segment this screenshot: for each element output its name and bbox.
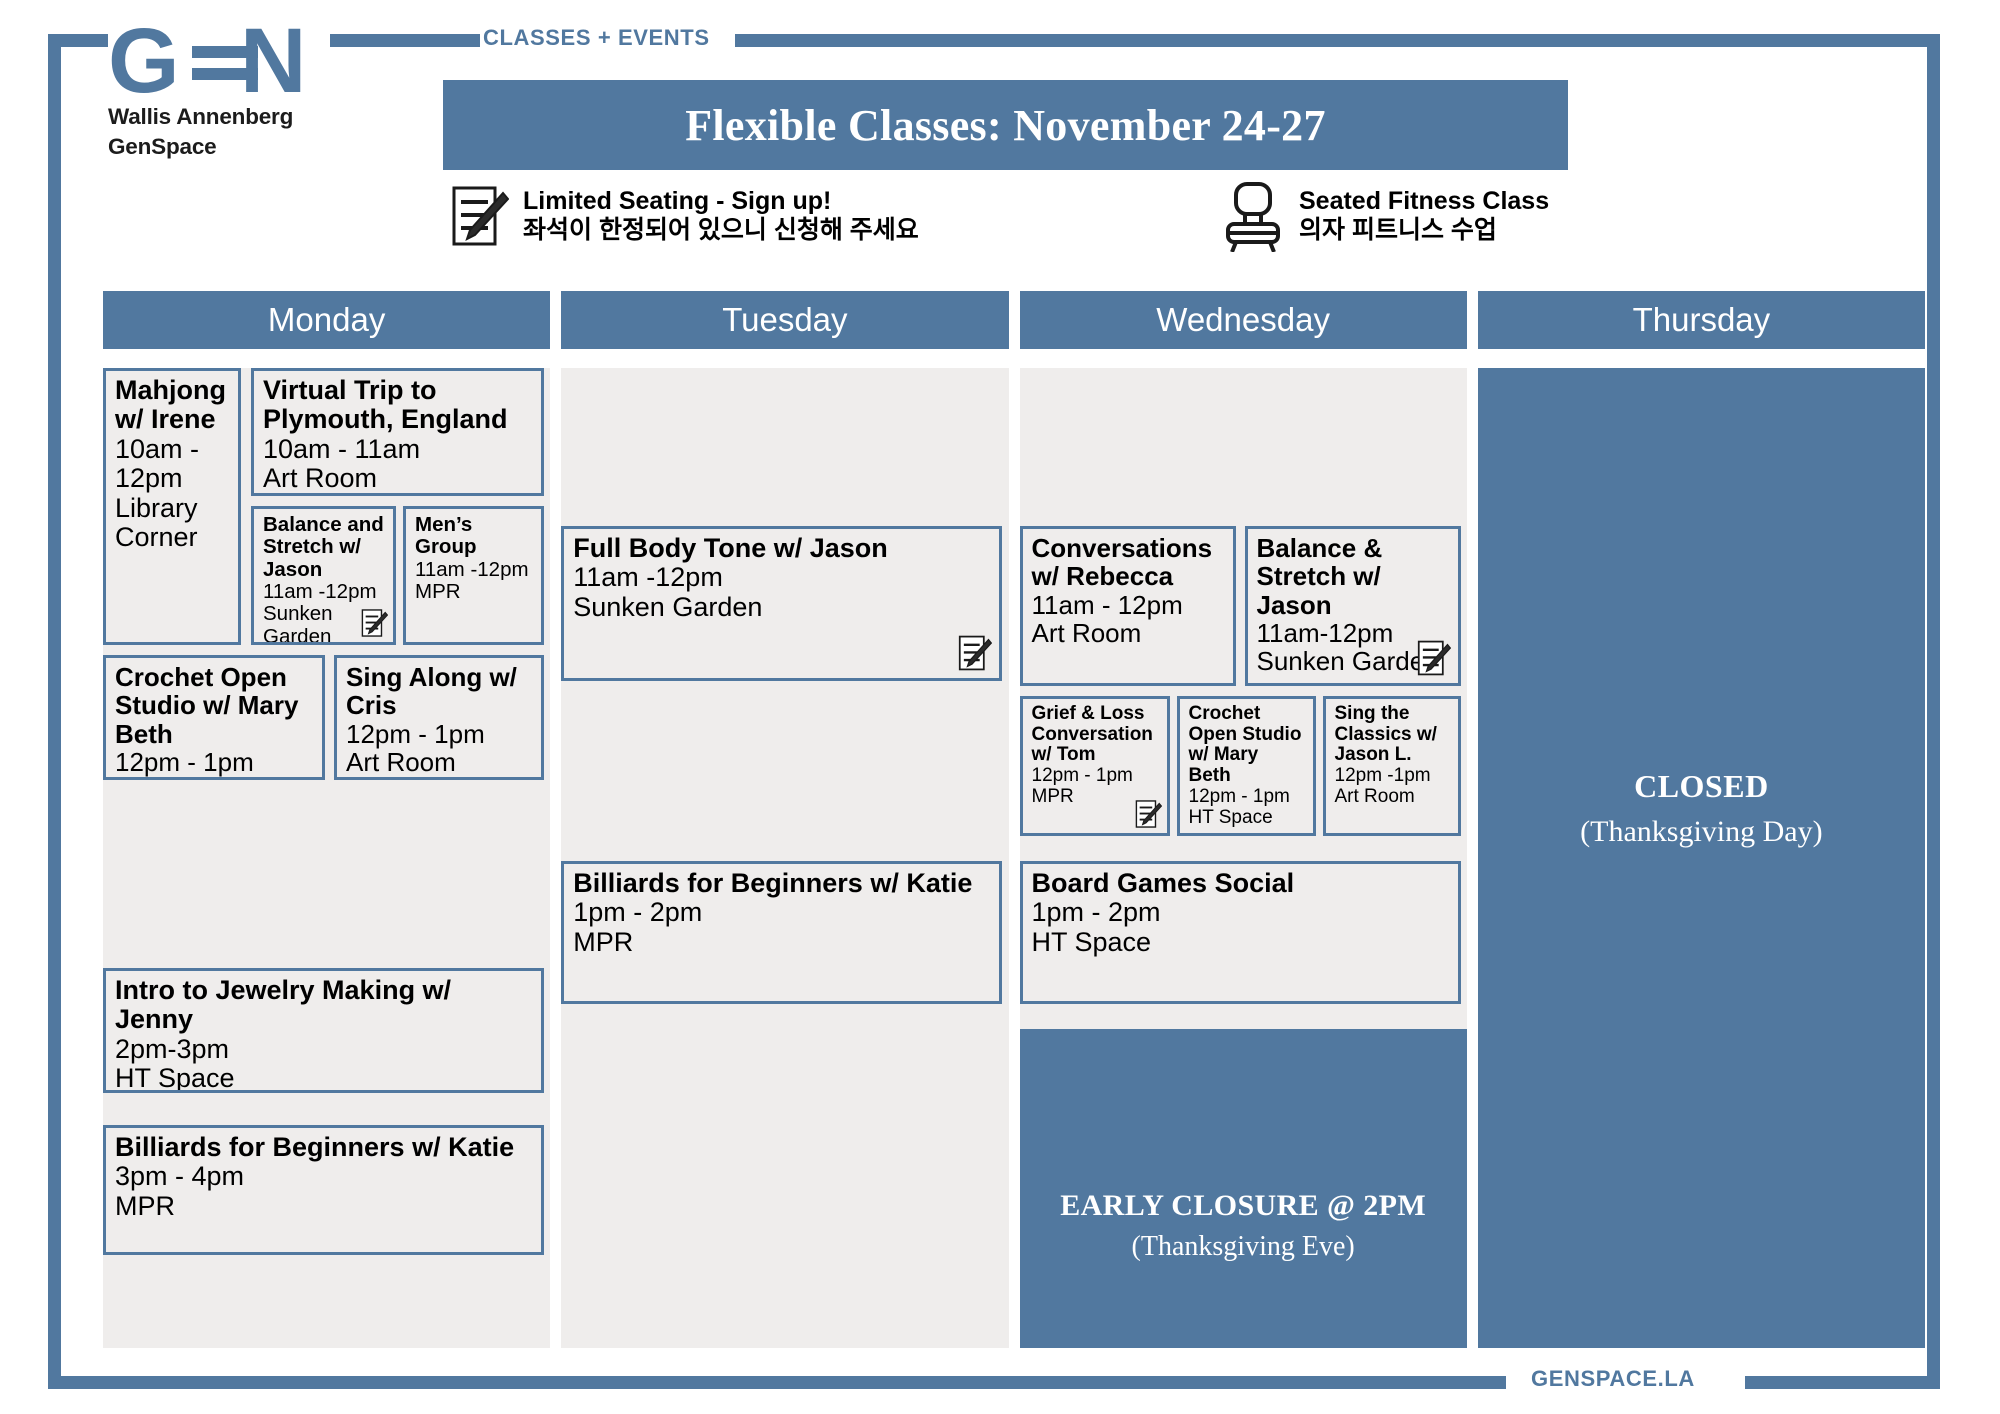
logo-mark: G N <box>108 18 313 100</box>
day-header-wednesday: Wednesday <box>1020 291 1467 349</box>
event-title: Balance & Stretch w/ Jason <box>1257 534 1450 619</box>
event-time: 11am -12pm <box>415 559 533 581</box>
event-card[interactable]: Sing Along w/ Cris 12pm - 1pm Art Room <box>334 655 544 780</box>
event-title: Billiards for Beginners w/ Katie <box>573 869 991 898</box>
event-time: 11am -12pm <box>263 581 385 603</box>
event-title: Board Games Social <box>1032 869 1450 898</box>
event-time: 1pm - 2pm <box>1032 898 1450 927</box>
genspace-logo: G N Wallis Annenberg GenSpace <box>108 18 338 163</box>
day-header-monday: Monday <box>103 291 550 349</box>
chair-icon <box>1223 180 1285 252</box>
event-card[interactable]: Mahjong w/ Irene 10am - 12pm Library Cor… <box>103 368 241 645</box>
closed-title: CLOSED <box>1478 768 1925 805</box>
event-location: HT Space <box>115 1064 533 1093</box>
column-wednesday: Conversations w/ Rebecca 11am - 12pm Art… <box>1020 368 1467 1348</box>
footer-url: GENSPACE.LA <box>1531 1366 1695 1392</box>
event-title: Crochet Open Studio w/ Mary Beth <box>115 663 314 748</box>
event-location: Art Room <box>1335 787 1450 808</box>
event-location: MPR <box>573 928 991 957</box>
event-card[interactable]: Intro to Jewelry Making w/ Jenny 2pm-3pm… <box>103 968 544 1093</box>
event-title: Intro to Jewelry Making w/ Jenny <box>115 976 533 1035</box>
frame-right-bar <box>1927 34 1940 1389</box>
event-location: MPR <box>115 1192 533 1221</box>
early-closure-title: EARLY CLOSURE @ 2PM <box>1020 1189 1467 1223</box>
event-location: HT Space <box>115 776 314 780</box>
event-location: Art Room <box>263 464 533 493</box>
event-card[interactable]: Sing the Classics w/ Jason L. 12pm -1pm … <box>1323 696 1461 836</box>
closed-notice: CLOSED (Thanksgiving Day) <box>1478 768 1925 849</box>
frame-bottom-right-bar <box>1745 1376 1940 1389</box>
event-title: Sing the Classics w/ Jason L. <box>1335 704 1450 766</box>
event-title: Mahjong w/ Irene <box>115 376 230 435</box>
event-time: 11am - 12pm <box>1032 591 1225 619</box>
column-thursday: CLOSED (Thanksgiving Day) <box>1478 368 1925 1348</box>
logo-letter-g: G <box>108 20 180 102</box>
page-title: Flexible Classes: November 24-27 <box>685 100 1326 151</box>
legend-signup-text: Limited Seating - Sign up! 좌석이 한정되어 있으니 … <box>523 187 919 246</box>
day-header-row: Monday Tuesday Wednesday Thursday <box>103 291 1925 349</box>
event-time: 3pm - 4pm <box>115 1162 533 1191</box>
legend-seated-korean: 의자 피트니스 수업 <box>1299 216 1549 246</box>
signup-pencil-note-icon <box>1135 799 1162 829</box>
event-title: Virtual Trip to Plymouth, England <box>263 376 533 435</box>
legend: Limited Seating - Sign up! 좌석이 한정되어 있으니 … <box>443 185 1568 253</box>
event-title: Crochet Open Studio w/ Mary Beth <box>1189 704 1305 787</box>
event-location: HT Space <box>1032 928 1450 957</box>
event-title: Conversations w/ Rebecca <box>1032 534 1225 591</box>
event-location: HT Space <box>1189 808 1305 829</box>
event-time: 11am -12pm <box>573 563 991 592</box>
early-closure-subtitle: (Thanksgiving Eve) <box>1020 1231 1467 1263</box>
closed-subtitle: (Thanksgiving Day) <box>1478 815 1925 849</box>
event-location: MPR <box>415 581 533 603</box>
early-closure-notice: EARLY CLOSURE @ 2PM (Thanksgiving Eve) <box>1020 1029 1467 1348</box>
event-location: Art Room <box>1032 619 1225 647</box>
event-card[interactable]: Men’s Group 11am -12pm MPR <box>403 506 544 645</box>
event-card[interactable]: Crochet Open Studio w/ Mary Beth 12pm - … <box>103 655 325 780</box>
event-card[interactable]: Crochet Open Studio w/ Mary Beth 12pm - … <box>1177 696 1316 836</box>
event-time: 12pm - 1pm <box>115 748 314 776</box>
day-header-tuesday: Tuesday <box>561 291 1008 349</box>
legend-item-seated-fitness: Seated Fitness Class 의자 피트니스 수업 <box>1223 180 1549 252</box>
event-card[interactable]: Full Body Tone w/ Jason 11am -12pm Sunke… <box>561 526 1002 681</box>
event-location: Sunken Garden <box>573 593 991 622</box>
event-card[interactable]: Grief & Loss Conversation w/ Tom 12pm - … <box>1020 696 1170 836</box>
signup-pencil-note-icon <box>1417 639 1451 677</box>
event-card[interactable]: Balance & Stretch w/ Jason 11am-12pm Sun… <box>1245 526 1461 686</box>
event-title: Men’s Group <box>415 514 533 559</box>
event-title: Grief & Loss Conversation w/ Tom <box>1032 704 1159 766</box>
header-kicker: CLASSES + EVENTS <box>483 25 710 51</box>
legend-signup-korean: 좌석이 한정되어 있으니 신청해 주세요 <box>523 216 919 246</box>
event-location: Library Corner <box>115 494 230 553</box>
event-card[interactable]: Billiards for Beginners w/ Katie 3pm - 4… <box>103 1125 544 1255</box>
event-title: Sing Along w/ Cris <box>346 663 533 720</box>
event-time: 12pm - 1pm <box>346 720 533 748</box>
frame-top-middle-bar <box>330 34 480 47</box>
event-time: 12pm -1pm <box>1335 766 1450 787</box>
signup-pencil-note-icon <box>361 608 388 638</box>
frame-top-left-bar <box>48 34 108 47</box>
event-time: 1pm - 2pm <box>573 898 991 927</box>
frame-bottom-left-bar <box>48 1376 1506 1389</box>
event-time: 12pm - 1pm <box>1189 787 1305 808</box>
event-time: 12pm - 1pm <box>1032 766 1159 787</box>
event-time: 10am - 12pm <box>115 435 230 494</box>
legend-seated-english: Seated Fitness Class <box>1299 187 1549 217</box>
frame-top-right-bar <box>735 34 1940 47</box>
legend-signup-english: Limited Seating - Sign up! <box>523 187 919 217</box>
event-card[interactable]: Board Games Social 1pm - 2pm HT Space <box>1020 861 1461 1004</box>
schedule-grid: Mahjong w/ Irene 10am - 12pm Library Cor… <box>103 368 1925 1348</box>
title-banner: Flexible Classes: November 24-27 <box>443 80 1568 170</box>
event-card[interactable]: Conversations w/ Rebecca 11am - 12pm Art… <box>1020 526 1236 686</box>
logo-letter-n: N <box>240 20 306 102</box>
signup-pencil-note-icon <box>451 185 509 247</box>
event-card[interactable]: Balance and Stretch w/ Jason 11am -12pm … <box>251 506 396 645</box>
event-title: Balance and Stretch w/ Jason <box>263 514 385 581</box>
day-header-thursday: Thursday <box>1478 291 1925 349</box>
event-time: 10am - 11am <box>263 435 533 464</box>
column-tuesday: Full Body Tone w/ Jason 11am -12pm Sunke… <box>561 368 1008 1348</box>
event-card[interactable]: Virtual Trip to Plymouth, England 10am -… <box>251 368 544 496</box>
event-title: Full Body Tone w/ Jason <box>573 534 991 563</box>
frame-left-bar <box>48 34 61 1389</box>
event-time: 2pm-3pm <box>115 1035 533 1064</box>
logo-wordmark-line2: GenSpace <box>108 132 338 162</box>
event-title: Billiards for Beginners w/ Katie <box>115 1133 533 1162</box>
signup-pencil-note-icon <box>958 634 992 672</box>
legend-item-signup: Limited Seating - Sign up! 좌석이 한정되어 있으니 … <box>451 185 919 247</box>
event-location: Art Room <box>346 748 533 776</box>
legend-seated-text: Seated Fitness Class 의자 피트니스 수업 <box>1299 187 1549 246</box>
event-card[interactable]: Billiards for Beginners w/ Katie 1pm - 2… <box>561 861 1002 1004</box>
column-monday: Mahjong w/ Irene 10am - 12pm Library Cor… <box>103 368 550 1348</box>
